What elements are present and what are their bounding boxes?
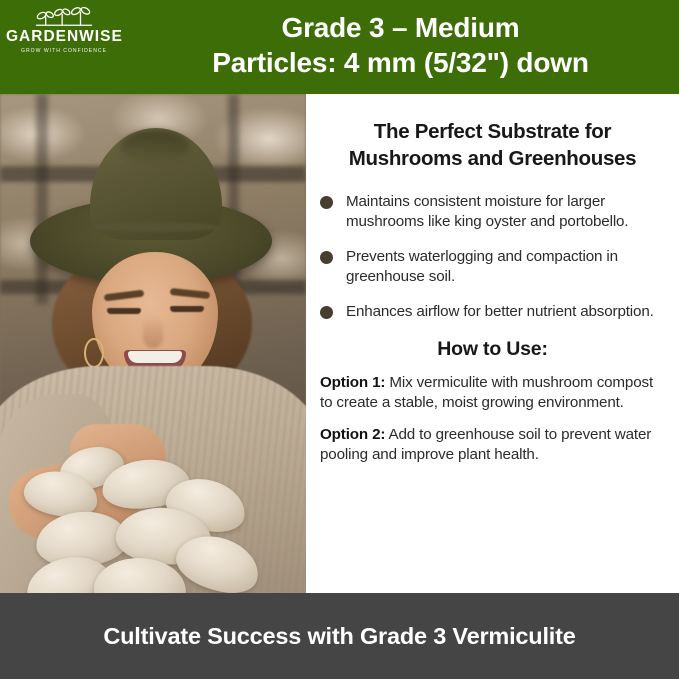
- brand-logo: GARDENWISE GROW WITH CONFIDENCE: [6, 6, 122, 54]
- benefit-text: Enhances airflow for better nutrient abs…: [346, 302, 654, 322]
- footer-banner: Cultivate Success with Grade 3 Vermiculi…: [0, 593, 679, 679]
- photo-person-eye: [170, 306, 204, 312]
- product-infographic: GARDENWISE GROW WITH CONFIDENCE Grade 3 …: [0, 0, 679, 679]
- photo-person-teeth: [128, 351, 182, 363]
- photo-person-eye: [107, 308, 141, 314]
- benefit-text: Maintains consistent moisture for larger…: [346, 192, 669, 232]
- list-item: Maintains consistent moisture for larger…: [320, 192, 669, 232]
- bullet-dot-icon: [320, 306, 333, 319]
- panel-title-line-1: The Perfect Substrate for: [322, 118, 663, 145]
- photo-hat-band: [92, 222, 220, 232]
- list-item: Prevents waterlogging and compaction in …: [320, 247, 669, 287]
- seedling-sprouts-icon: [31, 6, 97, 28]
- usage-option-1: Option 1: Mix vermiculite with mushroom …: [320, 373, 665, 413]
- panel-title-line-2: Mushrooms and Greenhouses: [322, 145, 663, 172]
- photo-shelf-post: [36, 94, 48, 304]
- panel-title: The Perfect Substrate for Mushrooms and …: [322, 118, 663, 173]
- photo-person-nose: [143, 316, 163, 348]
- photo-mushroom-cluster: [16, 446, 266, 593]
- bullet-dot-icon: [320, 196, 333, 209]
- footer-tagline: Cultivate Success with Grade 3 Vermiculi…: [0, 593, 679, 679]
- header-banner: GARDENWISE GROW WITH CONFIDENCE Grade 3 …: [0, 0, 679, 94]
- list-item: Enhances airflow for better nutrient abs…: [320, 302, 669, 322]
- usage-option-2: Option 2: Add to greenhouse soil to prev…: [320, 425, 665, 465]
- photo-person-earring: [84, 338, 104, 368]
- header-title-line-2: Particles: 4 mm (5/32") down: [122, 45, 679, 80]
- brand-tagline: GROW WITH CONFIDENCE: [6, 48, 122, 54]
- photo-hat-crease: [120, 130, 190, 164]
- benefits-list: Maintains consistent moisture for larger…: [320, 192, 669, 323]
- usage-option-1-label: Option 1:: [320, 374, 385, 391]
- how-to-use-heading: How to Use:: [322, 338, 663, 361]
- header-title-group: Grade 3 – Medium Particles: 4 mm (5/32")…: [122, 10, 679, 81]
- brand-wordmark: GARDENWISE: [6, 29, 122, 45]
- header-title-line-1: Grade 3 – Medium: [122, 10, 679, 45]
- benefit-text: Prevents waterlogging and compaction in …: [346, 247, 669, 287]
- product-photo: [0, 94, 306, 593]
- benefits-panel: The Perfect Substrate for Mushrooms and …: [306, 94, 679, 593]
- usage-option-2-label: Option 2:: [320, 426, 385, 443]
- bullet-dot-icon: [320, 251, 333, 264]
